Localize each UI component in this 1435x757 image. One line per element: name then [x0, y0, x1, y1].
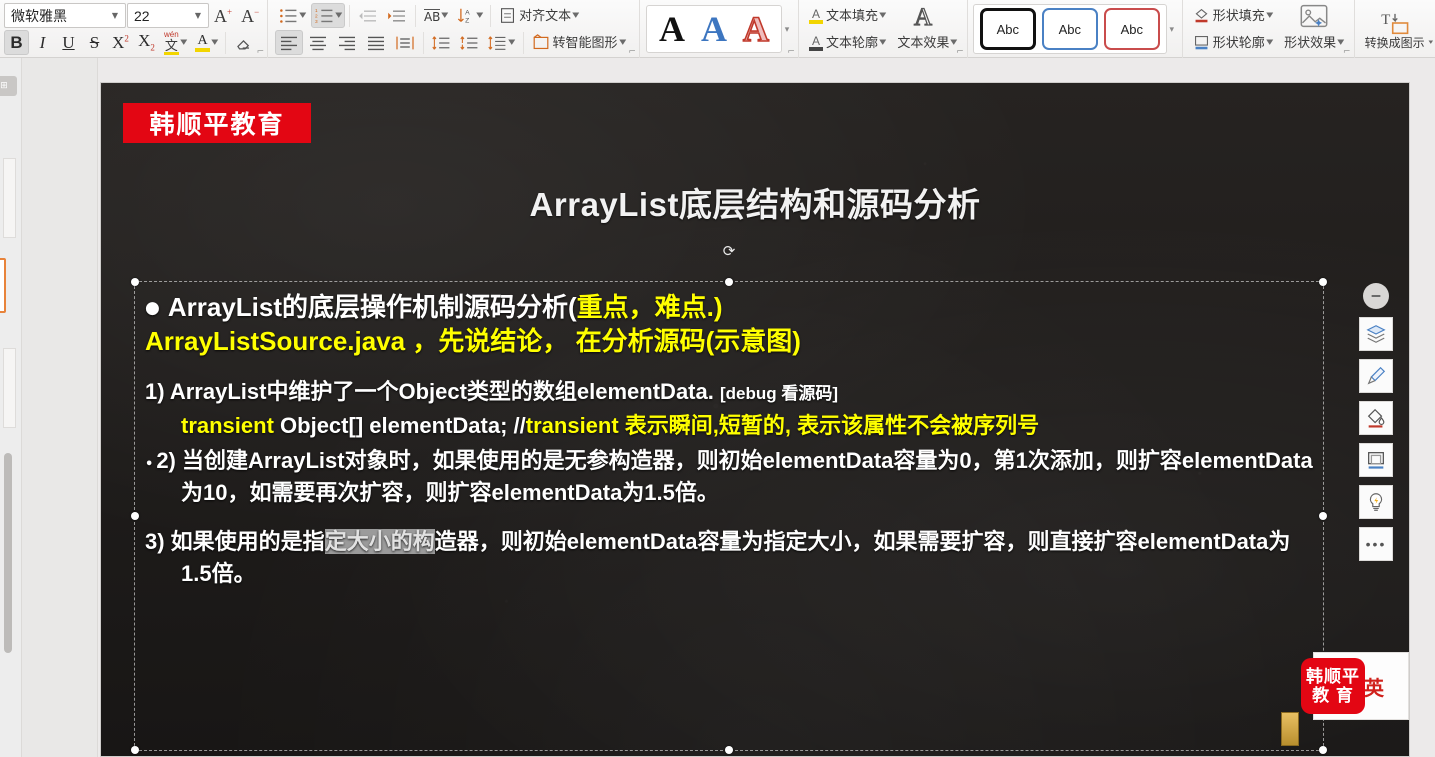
shape-style-blue[interactable]: Abc — [1042, 8, 1098, 50]
font-size-select[interactable]: 22 ▼ — [127, 3, 209, 28]
align-text-button[interactable]: 对齐文本 ▼ — [495, 3, 582, 28]
svg-text:2: 2 — [315, 13, 318, 19]
chevron-down-icon[interactable]: ▼ — [879, 39, 886, 46]
svg-text:1: 1 — [315, 8, 318, 14]
wordart-gallery[interactable]: A A A — [646, 5, 782, 53]
strikethrough-icon: S — [90, 34, 99, 51]
divider — [423, 32, 424, 54]
item1-transient-comment: transient 表示瞬间,短暂的, 表示该属性不会被序列号 — [526, 413, 1039, 438]
brush-icon — [1365, 365, 1387, 387]
ribbon-group-shape-styles: Abc Abc Abc ▾ — [967, 0, 1182, 58]
strikethrough-button[interactable]: S — [82, 30, 107, 55]
text-effect-outline-icon: A — [908, 1, 938, 31]
paragraph-item-1-code: transient Object[] elementData; //transi… — [145, 410, 1315, 443]
clear-formatting-button[interactable] — [230, 30, 257, 55]
floating-format-toolbar: ••• — [1359, 283, 1393, 561]
paragraph-item-3: 3) 如果使用的是指定大小的构造器，则初始elementData容量为指定大小，… — [145, 526, 1315, 591]
align-text-label: 对齐文本 — [519, 9, 571, 22]
shape-fill-button[interactable]: 形状填充 ▼ — [1189, 3, 1276, 28]
ribbon-group-shape-format: 形状填充 ▼ 形状轮廓 ▼ — [1182, 0, 1354, 58]
increase-indent-button[interactable] — [383, 3, 411, 28]
item1-transient-keyword: transient — [181, 413, 274, 438]
ribbon-group-convert-icon: T 转换成图示 ▾ — [1354, 0, 1435, 58]
shrink-font-icon: A− — [241, 7, 259, 25]
chevron-down-icon[interactable]: ▾ — [1429, 38, 1434, 46]
chevron-down-icon[interactable]: ▼ — [211, 39, 218, 46]
spacer — [145, 362, 1315, 376]
fill-color-button[interactable] — [1359, 401, 1393, 435]
chevron-down-icon[interactable]: ▼ — [442, 12, 449, 19]
text-direction-icon: AB — [424, 9, 440, 23]
resize-handle-middle-right[interactable] — [1319, 512, 1327, 520]
chevron-down-icon[interactable]: ▼ — [299, 12, 306, 19]
resize-handle-top-center[interactable] — [725, 278, 733, 286]
text-outline-label: 文本轮廓 — [826, 36, 878, 49]
font-dialog-launcher[interactable]: ⌐ — [257, 47, 265, 57]
picture-effects-button[interactable] — [1295, 3, 1333, 28]
shape-styles-gallery-more[interactable]: ▾ — [1167, 6, 1177, 52]
chevron-down-icon[interactable]: ▼ — [572, 12, 579, 19]
chevron-down-icon[interactable]: ▼ — [951, 39, 958, 46]
paragraph-item-1: 1) ArrayList中维护了一个Object类型的数组elementData… — [145, 376, 1315, 409]
change-case-icon: wén 文 — [164, 31, 179, 55]
ribbon-group-font: 微软雅黑 ▼ 22 ▼ A+ A− B I U S X2 X2 — [0, 0, 267, 58]
align-left-icon — [279, 35, 299, 51]
chevron-down-icon[interactable]: ▼ — [335, 12, 342, 19]
text-effects-label: 文本效果 — [897, 36, 949, 49]
underline-button[interactable]: U — [56, 30, 81, 55]
align-justify-button[interactable] — [362, 30, 390, 55]
shape-styles-gallery[interactable]: Abc Abc Abc — [973, 4, 1167, 54]
slide-title[interactable]: ArrayList底层结构和源码分析 — [101, 178, 1409, 226]
idea-lightbulb-icon — [1365, 491, 1387, 513]
slide-thumbnail-selected[interactable] — [0, 258, 6, 313]
item3-selected-text[interactable]: 定大小的构 — [325, 529, 435, 554]
font-color-button[interactable]: A ▼ — [191, 30, 221, 55]
eraser-icon — [234, 33, 253, 52]
chevron-down-icon[interactable]: ▼ — [476, 12, 483, 19]
divider — [415, 5, 416, 27]
ribbon-group-text-styles: A 文本填充 ▼ A A 文本轮廓 ▼ 文 — [798, 0, 967, 58]
brand-tag: 韩顺平教育 — [123, 103, 311, 143]
overview-white-text: ArrayList的底层操作机制源码分析( — [168, 292, 577, 322]
shape-fill-icon — [1193, 7, 1210, 24]
shape-fill-label: 形状填充 — [1213, 9, 1265, 22]
shape-format-dialog-launcher[interactable]: ⌐ — [1343, 47, 1351, 57]
expand-icon: ⊞ — [0, 81, 8, 91]
increase-indent-icon — [387, 8, 407, 24]
picture-effects-icon — [1299, 3, 1329, 29]
shape-style-red[interactable]: Abc — [1104, 8, 1160, 50]
ribbon-group-paragraph: ▼ 1 2 3 ▼ — [267, 0, 639, 58]
bullet-icon: ● — [145, 298, 160, 318]
slide-navigator-rail: ⊞ — [0, 58, 22, 757]
paragraph-dialog-launcher[interactable]: ⌐ — [628, 47, 636, 57]
wordart-style-red[interactable]: A — [736, 11, 776, 47]
shape-style-black[interactable]: Abc — [980, 8, 1036, 50]
convert-to-icon-button[interactable]: T 转换成图示 — [1361, 9, 1429, 50]
change-case-button[interactable]: wén 文 ▼ — [160, 30, 190, 55]
line-spacing-button[interactable]: ▼ — [484, 30, 518, 55]
resize-handle-bottom-right[interactable] — [1319, 746, 1327, 754]
watermark-line-2: 教 育 — [1312, 686, 1354, 705]
numbered-list-icon: 1 2 3 — [315, 8, 334, 24]
numbering-button[interactable]: 1 2 3 ▼ — [311, 3, 345, 28]
slide-canvas[interactable]: 韩顺平教育 ArrayList底层结构和源码分析 ⟳ ●ArrayList的底层… — [100, 82, 1410, 757]
chevron-down-icon[interactable]: ▼ — [619, 39, 626, 46]
resize-handle-bottom-left[interactable] — [131, 746, 139, 754]
align-justify-icon — [366, 35, 386, 51]
font-family-value: 微软雅黑 — [11, 6, 107, 26]
layers-button[interactable] — [1359, 317, 1393, 351]
fill-color-icon — [1365, 407, 1387, 429]
font-family-select[interactable]: 微软雅黑 ▼ — [4, 3, 126, 28]
subscript-button[interactable]: X2 — [134, 30, 159, 55]
navigator-scrollbar[interactable] — [4, 453, 12, 653]
distribute-text-button[interactable] — [391, 30, 419, 55]
bold-button[interactable]: B — [4, 30, 29, 55]
item2-text: 2) 当创建ArrayList对象时，如果使用的是无参构造器，则初始elemen… — [156, 448, 1312, 506]
slide-stage: 韩顺平教育 ArrayList底层结构和源码分析 ⟳ ●ArrayList的底层… — [98, 58, 1435, 757]
layers-icon — [1365, 323, 1387, 345]
brush-button[interactable] — [1359, 359, 1393, 393]
chevron-down-icon[interactable]: ▼ — [180, 39, 187, 46]
chevron-down-icon[interactable]: ▼ — [190, 11, 206, 20]
idea-button[interactable] — [1359, 485, 1393, 519]
body-placeholder[interactable]: ⟳ ●ArrayList的底层操作机制源码分析(重点，难点.) ArrayLis… — [134, 281, 1324, 751]
increase-font-size-button[interactable]: A+ — [210, 3, 236, 28]
more-options-icon: ••• — [1366, 536, 1387, 552]
chevron-down-icon[interactable]: ▼ — [1266, 12, 1273, 19]
bullet-list-icon — [279, 8, 298, 24]
decrease-indent-button[interactable] — [354, 3, 382, 28]
watermark-logo: 韩顺平 教 育 — [1301, 658, 1365, 714]
divider — [490, 5, 491, 27]
grow-font-icon: A+ — [214, 7, 232, 25]
slide-thumbnail[interactable] — [3, 348, 16, 428]
chevron-down-icon[interactable]: ▼ — [1266, 39, 1273, 46]
bullet-icon: • — [145, 457, 153, 472]
spacer — [145, 512, 1315, 526]
minus-circle-icon — [1369, 289, 1383, 303]
ribbon-group-wordart: A A A ▾ ⌐ — [639, 0, 798, 58]
resize-handle-bottom-center[interactable] — [725, 746, 733, 754]
sort-icon: AZ — [457, 7, 475, 24]
space-before-icon — [432, 35, 451, 51]
font-color-icon: A — [195, 34, 210, 52]
divider — [523, 32, 524, 54]
smartart-label: 转智能图形 — [553, 36, 618, 49]
paragraph-overview: ●ArrayList的底层操作机制源码分析(重点，难点.) — [145, 290, 1315, 326]
align-right-button[interactable] — [333, 30, 361, 55]
chevron-down-icon[interactable]: ▼ — [1337, 39, 1344, 46]
chevron-down-icon[interactable]: ▼ — [107, 11, 123, 20]
rotate-handle[interactable]: ⟳ — [721, 242, 737, 258]
item1-line1: 1) ArrayList中维护了一个Object类型的数组elementData… — [145, 379, 714, 404]
item3-prefix: 3) 如果使用的是指 — [145, 529, 325, 554]
paragraph-space-after-button[interactable] — [456, 30, 483, 55]
cursor-indicator — [1281, 712, 1299, 746]
collapse-toolbar-button[interactable] — [1363, 283, 1389, 309]
paragraph-source-file: ArrayListSource.java ，先说结论， 在分析源码(示意图) — [145, 324, 1315, 360]
resize-handle-top-right[interactable] — [1319, 278, 1327, 286]
sort-button[interactable]: AZ ▼ — [453, 3, 486, 28]
chevron-down-icon[interactable]: ▼ — [508, 39, 515, 46]
svg-text:A: A — [465, 10, 470, 17]
convert-to-icon-label: 转换成图示 — [1365, 37, 1425, 49]
align-center-icon — [308, 35, 328, 51]
bold-icon: B — [10, 34, 22, 51]
align-center-button[interactable] — [304, 30, 332, 55]
resize-handle-middle-left[interactable] — [131, 512, 139, 520]
underline-icon: U — [62, 34, 74, 51]
shape-outline-label: 形状轮廓 — [1213, 36, 1265, 49]
svg-text:Z: Z — [465, 17, 469, 24]
wordart-dialog-launcher[interactable]: ⌐ — [787, 47, 795, 57]
text-outline-icon: A — [809, 35, 823, 51]
shape-effects-button[interactable]: 形状效果 ▼ — [1277, 30, 1347, 55]
watermark-line-1: 韩顺平 — [1306, 667, 1360, 686]
thumbnail-pane — [22, 58, 98, 757]
align-text-icon — [499, 7, 516, 24]
text-direction-button[interactable]: AB ▼ — [420, 3, 452, 28]
shape-outline-button[interactable] — [1359, 443, 1393, 477]
line-spacing-icon — [488, 35, 507, 51]
bullets-button[interactable]: ▼ — [275, 3, 309, 28]
chevron-down-icon[interactable]: ▼ — [879, 12, 886, 19]
resize-handle-top-left[interactable] — [131, 278, 139, 286]
italic-icon: I — [40, 34, 46, 51]
shape-outline-icon — [1193, 34, 1210, 51]
body-text-content[interactable]: ●ArrayList的底层操作机制源码分析(重点，难点.) ArrayListS… — [145, 290, 1315, 593]
overview-highlight-text: 重点，难点.) — [577, 292, 723, 322]
convert-to-smartart-button[interactable]: 转智能图形 ▼ — [528, 30, 629, 55]
watermark-panel-text: 英 — [1364, 672, 1384, 701]
superscript-icon: X2 — [112, 34, 129, 51]
slide-thumbnail[interactable] — [3, 158, 16, 238]
svg-text:3: 3 — [315, 19, 318, 24]
svg-text:T: T — [1381, 12, 1390, 28]
text-fill-icon: A — [809, 8, 823, 24]
more-options-button[interactable]: ••• — [1359, 527, 1393, 561]
align-left-button[interactable] — [275, 30, 303, 55]
convert-to-icon-icon: T — [1379, 10, 1411, 36]
paragraph-item-2: •2) 当创建ArrayList对象时，如果使用的是无参构造器，则初始eleme… — [145, 445, 1315, 510]
wordart-style-blue[interactable]: A — [694, 11, 734, 47]
text-effects-preview[interactable]: A — [904, 3, 942, 28]
text-fill-label: 文本填充 — [826, 9, 878, 22]
text-effects-button[interactable]: 文本效果 ▼ — [890, 30, 960, 55]
paragraph-space-before-button[interactable] — [428, 30, 455, 55]
shape-effects-label: 形状效果 — [1284, 36, 1336, 49]
subscript-icon: X2 — [138, 32, 155, 52]
decrease-font-size-button[interactable]: A− — [237, 3, 263, 28]
text-styles-dialog-launcher[interactable]: ⌐ — [956, 47, 964, 57]
divider — [349, 5, 350, 27]
wordart-style-black[interactable]: A — [652, 11, 692, 47]
space-after-icon — [460, 35, 479, 51]
ribbon-toolbar: 微软雅黑 ▼ 22 ▼ A+ A− B I U S X2 X2 — [0, 0, 1435, 58]
item1-code-white: Object[] elementData; // — [274, 413, 526, 438]
smartart-icon — [532, 34, 550, 51]
shape-outline-button[interactable]: 形状轮廓 ▼ — [1189, 30, 1276, 55]
text-fill-button[interactable]: A 文本填充 ▼ — [805, 3, 889, 28]
item1-note: [debug 看源码] — [720, 384, 838, 403]
rail-expand-tab[interactable]: ⊞ — [0, 76, 17, 96]
svg-text:A: A — [914, 3, 932, 30]
shape-outline-icon — [1365, 449, 1387, 471]
align-distribute-icon — [395, 35, 415, 51]
text-outline-button[interactable]: A 文本轮廓 ▼ — [805, 30, 889, 55]
font-size-value: 22 — [134, 8, 190, 24]
wordart-gallery-more[interactable]: ▾ — [782, 6, 792, 52]
superscript-button[interactable]: X2 — [108, 30, 133, 55]
divider — [225, 32, 226, 54]
italic-button[interactable]: I — [30, 30, 55, 55]
decrease-indent-icon — [358, 8, 378, 24]
align-right-icon — [337, 35, 357, 51]
